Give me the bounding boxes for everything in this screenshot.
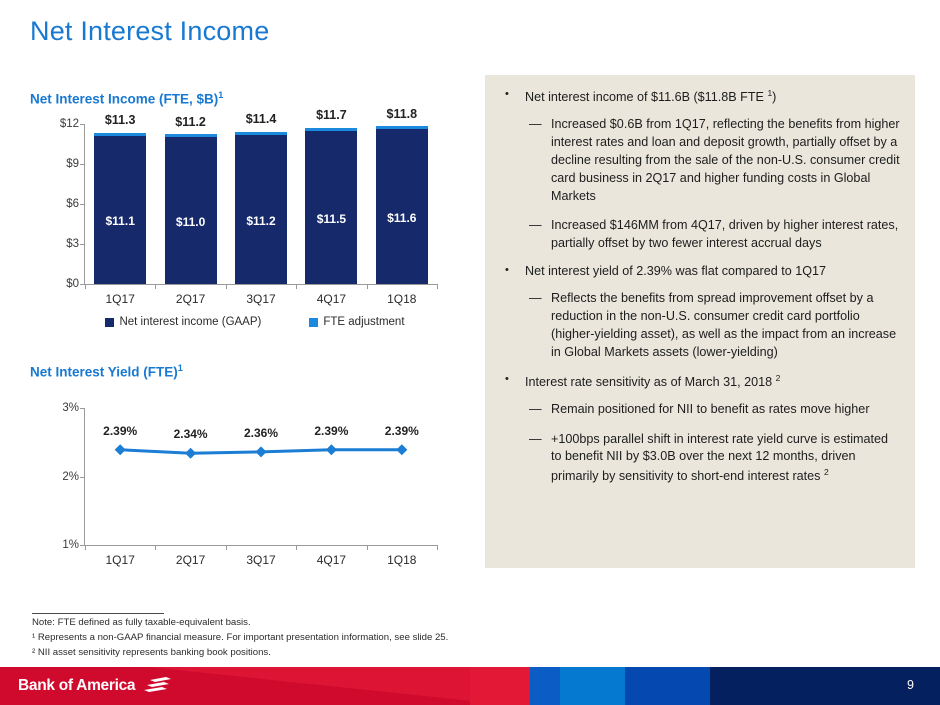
bar-y-axis-tick <box>80 164 85 165</box>
page-number: 9 <box>907 678 914 692</box>
bar-total-label: $11.7 <box>316 108 347 122</box>
line-x-axis-label: 4Q17 <box>317 553 346 567</box>
bar-x-axis-label: 1Q17 <box>106 292 135 306</box>
bar-total-label: $11.8 <box>387 107 418 121</box>
bar-x-axis-tick <box>367 284 368 289</box>
bar-chart-heading-superscript: 1 <box>218 90 223 100</box>
legend-label-gaap: Net interest income (GAAP) <box>119 316 261 328</box>
bar-x-axis-label: 1Q18 <box>387 292 416 306</box>
line-x-axis-tick <box>85 545 86 550</box>
bar-chart-heading: Net Interest Income (FTE, $B)1 <box>30 90 223 107</box>
yield-data-point[interactable] <box>115 444 126 455</box>
commentary-sub-bullet-text: Reflects the benefits from spread improv… <box>551 291 896 359</box>
commentary-sub-bullet: —Increased $146MM from 4Q17, driven by h… <box>525 217 901 253</box>
flagscape-icon <box>142 676 172 696</box>
bar-chart-legend: Net interest income (GAAP) FTE adjustmen… <box>60 316 450 328</box>
sub-bullet-marker-icon: — <box>529 217 542 235</box>
yield-value-label: 2.36% <box>244 426 278 440</box>
net-interest-yield-line-chart: 1%2%3%2.39%2.34%2.36%2.39%2.39%1Q172Q173… <box>28 398 440 573</box>
legend-swatch-fte <box>309 318 318 327</box>
commentary-bullet-tail: ) <box>772 90 776 104</box>
commentary-bullet: •Net interest income of $11.6B ($11.8B F… <box>495 87 901 253</box>
bar-y-axis-label: $9 <box>66 158 79 170</box>
legend-item-fte: FTE adjustment <box>309 316 404 328</box>
bar-segment-gaap[interactable]: $11.0 <box>165 137 217 284</box>
commentary-bullet-text: Net interest yield of 2.39% was flat com… <box>525 264 826 278</box>
commentary-sub-bullet-text: Increased $0.6B from 1Q17, reflecting th… <box>551 117 900 203</box>
bar-total-label: $11.2 <box>175 115 206 129</box>
line-chart-heading-superscript: 1 <box>178 363 183 373</box>
commentary-sub-bullet: —Reflects the benefits from spread impro… <box>525 290 901 362</box>
page-title: Net Interest Income <box>30 16 269 47</box>
yield-data-point[interactable] <box>185 448 196 459</box>
bar-x-axis-label: 2Q17 <box>176 292 205 306</box>
line-y-axis-tick <box>80 477 85 478</box>
bar-value-label-gaap: $11.1 <box>106 214 135 228</box>
footnotes: Note: FTE defined as fully taxable-equiv… <box>32 616 672 661</box>
yield-data-point[interactable] <box>396 444 407 455</box>
line-y-axis-tick <box>80 408 85 409</box>
bar-stack: $11.2 <box>235 132 287 284</box>
bar-x-axis-label: 3Q17 <box>246 292 275 306</box>
commentary-panel: •Net interest income of $11.6B ($11.8B F… <box>485 75 915 568</box>
bar-y-axis-label: $6 <box>66 198 79 210</box>
commentary-sub-list: —Reflects the benefits from spread impro… <box>525 290 901 362</box>
commentary-list: •Net interest income of $11.6B ($11.8B F… <box>495 87 901 486</box>
bar-chart-heading-text: Net Interest Income (FTE, $B) <box>30 92 218 107</box>
bar-segment-gaap[interactable]: $11.5 <box>305 131 357 284</box>
bar-segment-gaap[interactable]: $11.1 <box>94 136 146 284</box>
commentary-sub-bullet-text: Increased $146MM from 4Q17, driven by hi… <box>551 218 898 250</box>
commentary-sub-bullet: —Remain positioned for NII to benefit as… <box>525 401 901 419</box>
bar-value-label-gaap: $11.5 <box>317 212 346 226</box>
bar-stack: $11.5 <box>305 128 357 284</box>
line-chart-heading-text: Net Interest Yield (FTE) <box>30 365 178 380</box>
yield-data-point[interactable] <box>256 446 267 457</box>
sub-bullet-marker-icon: — <box>529 431 542 449</box>
line-y-axis-label: 1% <box>62 539 79 551</box>
line-x-axis-label: 1Q18 <box>387 553 416 567</box>
bar-y-axis-tick <box>80 244 85 245</box>
commentary-bullet: •Interest rate sensitivity as of March 3… <box>495 372 901 487</box>
bar-stack: $11.0 <box>165 134 217 284</box>
footnote-line: ¹ Represents a non-GAAP financial measur… <box>32 631 672 646</box>
bar-x-axis-tick <box>85 284 86 289</box>
footer-band-blue-3 <box>625 667 710 705</box>
line-x-axis-label: 3Q17 <box>246 553 275 567</box>
line-plot-area: 1%2%3%2.39%2.34%2.36%2.39%2.39%1Q172Q173… <box>84 408 437 546</box>
commentary-sub-superscript: 2 <box>824 467 829 477</box>
footer-band-blue-2 <box>560 667 625 705</box>
commentary-bullet-text: Net interest income of $11.6B ($11.8B FT… <box>525 90 767 104</box>
line-y-axis-label: 3% <box>62 402 79 414</box>
line-x-axis-label: 1Q17 <box>106 553 135 567</box>
bank-of-america-logo: Bank of America <box>18 676 172 696</box>
commentary-sub-list: —Remain positioned for NII to benefit as… <box>525 401 901 487</box>
sub-bullet-marker-icon: — <box>529 116 542 134</box>
commentary-bullet: •Net interest yield of 2.39% was flat co… <box>495 263 901 361</box>
bar-y-axis-tick <box>80 204 85 205</box>
bullet-marker-icon: • <box>505 263 509 279</box>
yield-value-label: 2.39% <box>385 424 419 438</box>
yield-value-label: 2.39% <box>314 424 348 438</box>
yield-value-label: 2.34% <box>174 427 208 441</box>
commentary-sub-bullet-text: Remain positioned for NII to benefit as … <box>551 402 870 416</box>
bar-value-label-gaap: $11.6 <box>387 211 416 225</box>
bar-x-axis-tick <box>226 284 227 289</box>
bar-plot-area: $0$3$6$9$12$11.1$11.31Q17$11.0$11.22Q17$… <box>84 124 437 285</box>
yield-data-point[interactable] <box>326 444 337 455</box>
bar-y-axis-label: $3 <box>66 238 79 250</box>
yield-value-label: 2.39% <box>103 424 137 438</box>
line-x-axis-tick <box>437 545 438 550</box>
line-x-axis-tick <box>367 545 368 550</box>
bar-stack: $11.1 <box>94 133 146 284</box>
line-x-axis-tick <box>155 545 156 550</box>
commentary-bullet-text: Interest rate sensitivity as of March 31… <box>525 375 776 389</box>
legend-item-gaap: Net interest income (GAAP) <box>105 316 261 328</box>
sub-bullet-marker-icon: — <box>529 290 542 308</box>
legend-label-fte: FTE adjustment <box>323 316 404 328</box>
line-x-axis-tick <box>296 545 297 550</box>
bar-y-axis-label: $12 <box>60 118 79 130</box>
bar-value-label-gaap: $11.2 <box>246 214 275 228</box>
bar-x-axis-tick <box>296 284 297 289</box>
slide-footer: Bank of America 9 <box>0 667 940 705</box>
bar-stack: $11.6 <box>376 126 428 284</box>
bar-x-axis-label: 4Q17 <box>317 292 346 306</box>
commentary-superscript: 2 <box>776 373 781 383</box>
bar-total-label: $11.4 <box>246 112 277 126</box>
line-x-axis-label: 2Q17 <box>176 553 205 567</box>
footnote-line: Note: FTE defined as fully taxable-equiv… <box>32 616 672 631</box>
footnote-divider <box>32 613 164 614</box>
commentary-sub-list: —Increased $0.6B from 1Q17, reflecting t… <box>525 116 901 253</box>
line-chart-heading: Net Interest Yield (FTE)1 <box>30 363 183 380</box>
bar-total-label: $11.3 <box>105 113 136 127</box>
bullet-marker-icon: • <box>505 87 509 103</box>
bar-value-label-gaap: $11.0 <box>176 215 205 229</box>
line-x-axis-tick <box>226 545 227 550</box>
logo-text: Bank of America <box>18 677 135 695</box>
bar-y-axis-label: $0 <box>66 278 79 290</box>
sub-bullet-marker-icon: — <box>529 401 542 419</box>
bullet-marker-icon: • <box>505 372 509 388</box>
commentary-sub-bullet-text: +100bps parallel shift in interest rate … <box>551 432 888 484</box>
legend-swatch-gaap <box>105 318 114 327</box>
line-y-axis-label: 2% <box>62 471 79 483</box>
net-interest-income-bar-chart: $0$3$6$9$12$11.1$11.31Q17$11.0$11.22Q17$… <box>28 112 440 302</box>
commentary-sub-bullet: —+100bps parallel shift in interest rate… <box>525 431 901 487</box>
bar-x-axis-tick <box>155 284 156 289</box>
bar-segment-gaap[interactable]: $11.6 <box>376 129 428 284</box>
bar-x-axis-tick <box>437 284 438 289</box>
footnote-line: ² NII asset sensitivity represents banki… <box>32 646 672 661</box>
bar-segment-gaap[interactable]: $11.2 <box>235 135 287 284</box>
footer-band-navy <box>710 667 940 705</box>
footer-band-red-light <box>470 667 530 705</box>
commentary-sub-bullet: —Increased $0.6B from 1Q17, reflecting t… <box>525 116 901 205</box>
bar-y-axis-tick <box>80 124 85 125</box>
